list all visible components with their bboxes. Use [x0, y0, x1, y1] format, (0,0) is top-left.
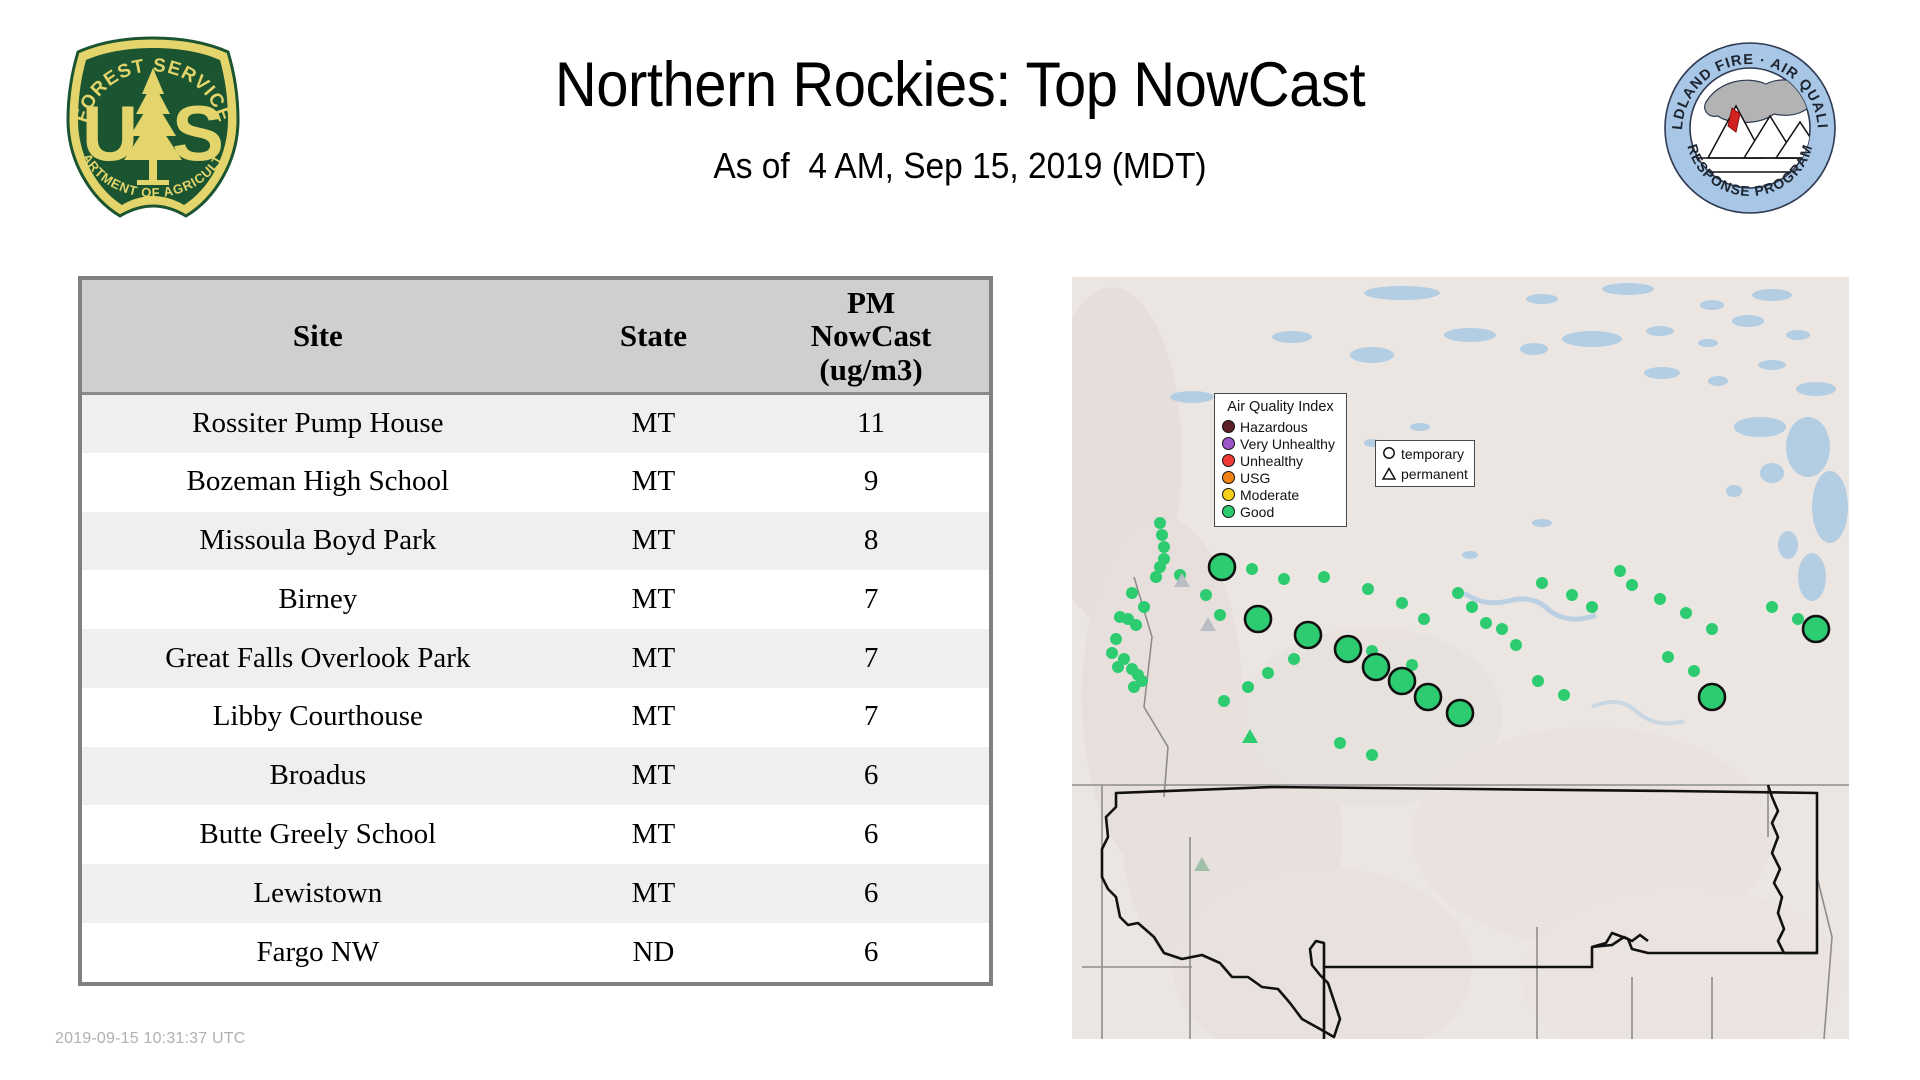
aqi-legend-swatch — [1222, 471, 1235, 484]
monitor-marker-top-site[interactable] — [1699, 684, 1725, 710]
monitor-marker-small[interactable] — [1766, 601, 1778, 613]
symbol-legend-row-temporary: temporary — [1381, 444, 1470, 464]
cell-state: MT — [554, 629, 754, 688]
monitor-marker-small[interactable] — [1200, 589, 1212, 601]
monitor-marker-small[interactable] — [1138, 601, 1150, 613]
table-row: Fargo NWND6 — [82, 923, 989, 982]
column-header-pm-line3: (ug/m3) — [757, 353, 985, 386]
aqi-legend-row: Very Unhealthy — [1222, 435, 1339, 452]
aqi-legend-label: Moderate — [1240, 487, 1299, 503]
monitor-marker-small[interactable] — [1214, 609, 1226, 621]
aqi-legend-title: Air Quality Index — [1222, 399, 1339, 415]
aqi-legend-row: Good — [1222, 503, 1339, 520]
symbol-legend-label-temporary: temporary — [1401, 446, 1464, 462]
cell-site: Fargo NW — [82, 923, 554, 982]
monitor-marker-small[interactable] — [1792, 613, 1804, 625]
monitor-marker-small[interactable] — [1246, 563, 1258, 575]
monitor-marker-small[interactable] — [1334, 737, 1346, 749]
table-row: Butte Greely SchoolMT6 — [82, 805, 989, 864]
monitor-marker-small[interactable] — [1466, 601, 1478, 613]
column-header-pm-line1: PM — [757, 286, 985, 319]
aqi-legend-label: Very Unhealthy — [1240, 436, 1335, 452]
cell-state: MT — [554, 512, 754, 571]
cell-site: Butte Greely School — [82, 805, 554, 864]
monitor-marker-small[interactable] — [1566, 589, 1578, 601]
table-header-row: Site State PM NowCast (ug/m3) — [82, 280, 989, 394]
symbol-legend-label-permanent: permanent — [1401, 466, 1468, 482]
cell-pm-nowcast: 6 — [753, 864, 989, 923]
aqi-legend-row: Hazardous — [1222, 418, 1339, 435]
monitor-marker-small[interactable] — [1496, 623, 1508, 635]
table-body: Rossiter Pump HouseMT11Bozeman High Scho… — [82, 394, 989, 982]
monitor-marker-small[interactable] — [1532, 675, 1544, 687]
table-row: Libby CourthouseMT7 — [82, 688, 989, 747]
monitor-marker-top-site[interactable] — [1447, 700, 1473, 726]
aqi-legend-label: Good — [1240, 504, 1274, 520]
aqi-legend: Air Quality Index HazardousVery Unhealth… — [1214, 393, 1347, 527]
cell-site: Libby Courthouse — [82, 688, 554, 747]
monitor-marker-small[interactable] — [1154, 561, 1166, 573]
monitor-marker-small[interactable] — [1418, 613, 1430, 625]
column-header-site: Site — [82, 280, 554, 394]
monitor-marker-small[interactable] — [1510, 639, 1522, 651]
cell-site: Great Falls Overlook Park — [82, 629, 554, 688]
monitor-marker-small[interactable] — [1278, 573, 1290, 585]
permanent-triangle-icon — [1381, 466, 1397, 482]
monitor-marker-top-site[interactable] — [1209, 554, 1235, 580]
cell-site: Birney — [82, 570, 554, 629]
cell-state: ND — [554, 923, 754, 982]
cell-pm-nowcast: 9 — [753, 453, 989, 512]
aqi-legend-label: Unhealthy — [1240, 453, 1303, 469]
table-row: Missoula Boyd ParkMT8 — [82, 512, 989, 571]
monitor-marker-small[interactable] — [1156, 529, 1168, 541]
cell-site: Broadus — [82, 747, 554, 806]
monitor-marker-small[interactable] — [1586, 601, 1598, 613]
aqi-legend-swatch — [1222, 420, 1235, 433]
monitor-marker-small[interactable] — [1110, 633, 1122, 645]
aqi-legend-swatch — [1222, 454, 1235, 467]
monitor-marker-top-site[interactable] — [1803, 616, 1829, 642]
temporary-circle-icon — [1381, 446, 1397, 462]
aqi-legend-items: HazardousVery UnhealthyUnhealthyUSGModer… — [1222, 418, 1339, 520]
monitor-marker-small[interactable] — [1680, 607, 1692, 619]
monitor-marker-small[interactable] — [1218, 695, 1230, 707]
cell-site: Lewistown — [82, 864, 554, 923]
cell-pm-nowcast: 7 — [753, 570, 989, 629]
monitor-marker-small[interactable] — [1396, 597, 1408, 609]
monitor-marker-small[interactable] — [1452, 587, 1464, 599]
monitor-marker-small[interactable] — [1112, 661, 1124, 673]
monitor-marker-small[interactable] — [1688, 665, 1700, 677]
aqi-legend-swatch — [1222, 437, 1235, 450]
table-row: LewistownMT6 — [82, 864, 989, 923]
monitor-marker-top-site[interactable] — [1245, 606, 1271, 632]
monitor-marker-small[interactable] — [1158, 541, 1170, 553]
slide-canvas: U S FOREST SERVICE DEPARTMENT OF AGRICUL… — [0, 0, 1920, 1080]
monitor-marker-top-site[interactable] — [1363, 654, 1389, 680]
map-canvas — [1072, 277, 1849, 1039]
monitor-marker-small[interactable] — [1706, 623, 1718, 635]
table-row: Great Falls Overlook ParkMT7 — [82, 629, 989, 688]
aqi-legend-swatch — [1222, 505, 1235, 518]
table-row: BroadusMT6 — [82, 747, 989, 806]
cell-pm-nowcast: 6 — [753, 747, 989, 806]
monitor-marker-small[interactable] — [1558, 689, 1570, 701]
monitor-marker-small[interactable] — [1126, 587, 1138, 599]
symbol-legend: temporary permanent — [1375, 440, 1475, 487]
monitor-marker-small[interactable] — [1362, 583, 1374, 595]
monitor-marker-small[interactable] — [1242, 681, 1254, 693]
aqi-legend-row: Moderate — [1222, 486, 1339, 503]
aqi-legend-swatch — [1222, 488, 1235, 501]
cell-state: MT — [554, 805, 754, 864]
monitor-marker-small[interactable] — [1106, 647, 1118, 659]
monitor-marker-top-site[interactable] — [1389, 668, 1415, 694]
monitor-marker-top-site[interactable] — [1415, 684, 1441, 710]
cell-state: MT — [554, 688, 754, 747]
symbol-legend-row-permanent: permanent — [1381, 464, 1470, 484]
monitor-marker-small[interactable] — [1536, 577, 1548, 589]
column-header-state: State — [554, 280, 754, 394]
cell-pm-nowcast: 6 — [753, 923, 989, 982]
aqi-legend-label: USG — [1240, 470, 1270, 486]
table-header: Site State PM NowCast (ug/m3) — [82, 280, 989, 394]
aqi-legend-row: USG — [1222, 469, 1339, 486]
cell-pm-nowcast: 11 — [753, 394, 989, 453]
aqi-legend-row: Unhealthy — [1222, 452, 1339, 469]
aqi-legend-label: Hazardous — [1240, 419, 1308, 435]
cell-pm-nowcast: 8 — [753, 512, 989, 571]
monitor-marker-small[interactable] — [1262, 667, 1274, 679]
monitor-marker-small[interactable] — [1318, 571, 1330, 583]
title-block: Northern Rockies: Top NowCast As of 4 AM… — [260, 52, 1660, 186]
monitor-marker-small[interactable] — [1662, 651, 1674, 663]
cell-state: MT — [554, 747, 754, 806]
generation-timestamp: 2019-09-15 10:31:37 UTC — [55, 1030, 246, 1048]
monitor-marker-small[interactable] — [1614, 565, 1626, 577]
monitor-marker-small[interactable] — [1130, 619, 1142, 631]
air-quality-map[interactable]: Air Quality Index HazardousVery Unhealth… — [1072, 277, 1849, 1039]
monitor-marker-top-site[interactable] — [1335, 636, 1361, 662]
cell-state: MT — [554, 453, 754, 512]
page-subtitle: As of 4 AM, Sep 15, 2019 (MDT) — [309, 146, 1611, 186]
monitor-marker-small[interactable] — [1154, 517, 1166, 529]
table-row: Rossiter Pump HouseMT11 — [82, 394, 989, 453]
cell-pm-nowcast: 7 — [753, 688, 989, 747]
cell-site: Missoula Boyd Park — [82, 512, 554, 571]
monitor-marker-top-site[interactable] — [1295, 622, 1321, 648]
cell-state: MT — [554, 570, 754, 629]
nowcast-table: Site State PM NowCast (ug/m3) Rossiter P… — [82, 280, 989, 982]
cell-state: MT — [554, 394, 754, 453]
column-header-pm-line2: NowCast — [757, 319, 985, 352]
monitor-marker-small[interactable] — [1366, 749, 1378, 761]
monitor-marker-small[interactable] — [1128, 681, 1140, 693]
cell-state: MT — [554, 864, 754, 923]
cell-site: Rossiter Pump House — [82, 394, 554, 453]
nowcast-table-container: Site State PM NowCast (ug/m3) Rossiter P… — [78, 276, 993, 986]
table-row: BirneyMT7 — [82, 570, 989, 629]
forest-service-logo: U S FOREST SERVICE DEPARTMENT OF AGRICUL… — [58, 32, 248, 227]
column-header-pm-nowcast: PM NowCast (ug/m3) — [753, 280, 989, 394]
monitor-marker-small[interactable] — [1288, 653, 1300, 665]
monitor-marker-small[interactable] — [1480, 617, 1492, 629]
monitor-marker-small[interactable] — [1654, 593, 1666, 605]
monitor-marker-small[interactable] — [1626, 579, 1638, 591]
cell-pm-nowcast: 6 — [753, 805, 989, 864]
page-title: Northern Rockies: Top NowCast — [316, 52, 1604, 118]
wildland-fire-air-quality-logo: WILDLAND FIRE · AIR QUALITY RESPONSE PRO… — [1662, 40, 1838, 216]
table-row: Bozeman High SchoolMT9 — [82, 453, 989, 512]
cell-site: Bozeman High School — [82, 453, 554, 512]
cell-pm-nowcast: 7 — [753, 629, 989, 688]
